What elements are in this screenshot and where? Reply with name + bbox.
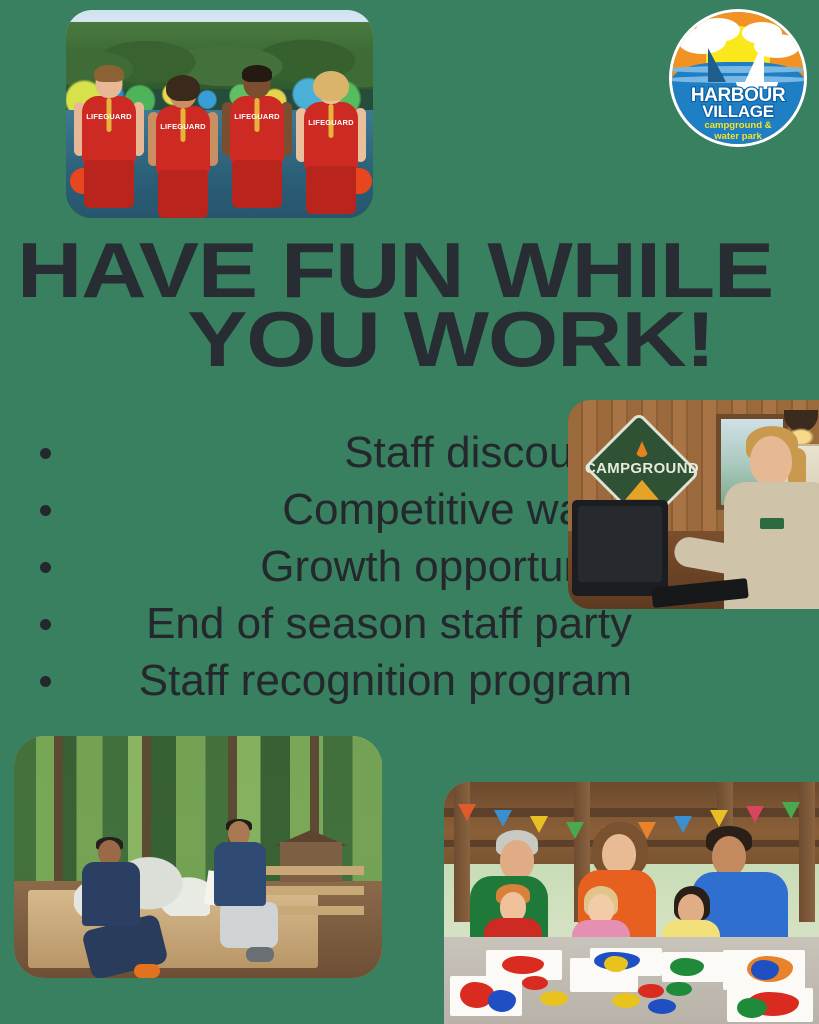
list-item: End of season staff party — [0, 595, 640, 652]
photo-lifeguards: LIFEGUARD LIFEGUARD LIFEGUAR — [66, 10, 373, 218]
pavilion-post — [799, 782, 815, 922]
bunting-flag — [782, 802, 800, 819]
paint-dish — [666, 982, 692, 996]
paint-dish — [540, 991, 568, 1006]
computer-monitor — [572, 500, 668, 596]
lifeguard-figure: LIFEGUARD — [146, 78, 220, 218]
tent-icon — [625, 479, 659, 499]
list-item: Competitive wage — [0, 481, 640, 538]
jersey-text: LIFEGUARD — [83, 112, 135, 121]
list-item: Staff recognition program — [0, 652, 640, 709]
bunting-flag — [530, 816, 548, 833]
bunting-flag — [494, 810, 512, 827]
photo-family-painting — [444, 782, 819, 1024]
tree-trunk — [54, 736, 63, 891]
bunting-flag — [674, 816, 692, 833]
paint-dish — [612, 993, 640, 1008]
logo-sailboat-dark-icon — [708, 48, 726, 82]
page-title: HAVE FUN WHILE YOU WORK! — [10, 236, 819, 373]
crew-member-shoe — [134, 964, 160, 978]
list-item: Growth opportunity — [0, 538, 640, 595]
logo-tagline-line-1: campground & — [672, 121, 804, 131]
paint-dish — [638, 984, 664, 998]
lifeguard-figure: LIFEGUARD — [294, 74, 368, 218]
list-item: Staff discounts — [0, 424, 640, 481]
adult-head — [712, 836, 746, 876]
logo-wave — [672, 66, 804, 73]
lifeguard-figure: LIFEGUARD — [220, 68, 294, 218]
recruitment-poster: LIFEGUARD LIFEGUARD LIFEGUAR — [0, 0, 819, 1024]
jersey-text: LIFEGUARD — [305, 118, 357, 127]
bunting-flag — [566, 822, 584, 839]
bunting-flag — [710, 810, 728, 827]
paint-dish — [522, 976, 548, 990]
crew-member-legs — [220, 902, 278, 948]
crew-member-shirt — [82, 862, 140, 926]
logo-name-bottom: VILLAGE — [672, 103, 804, 120]
campfire-flame-icon — [635, 441, 649, 457]
staff-head — [750, 436, 792, 486]
harbour-village-logo: HARBOUR VILLAGE campground & water park — [672, 12, 804, 144]
logo-cloud-icon — [696, 18, 740, 42]
photo-grounds-crew — [14, 736, 382, 978]
adult-head — [602, 834, 636, 874]
lifeguard-figure: LIFEGUARD — [72, 68, 146, 218]
headline-line-2: YOU WORK! — [10, 305, 819, 374]
logo-sailboat-white-icon — [744, 40, 764, 84]
logo-tagline-line-2: water park — [672, 132, 804, 142]
adult-head — [500, 840, 534, 880]
crew-member-shirt — [214, 842, 266, 906]
crew-member-shoe — [246, 947, 274, 962]
paint-dish — [648, 999, 676, 1014]
campground-sign-text: CAMPGROUND — [585, 460, 699, 477]
monitor-screen — [578, 506, 662, 582]
staff-name-badge — [760, 518, 784, 529]
bunting-flag — [458, 804, 476, 821]
jersey-text: LIFEGUARD — [157, 122, 209, 131]
bunting-flag — [746, 806, 764, 823]
photo-campground-office: CAMPGROUND — [568, 400, 819, 609]
jersey-text: LIFEGUARD — [231, 112, 283, 121]
benefits-list: Staff discounts Competitive wage Growth … — [0, 424, 640, 709]
